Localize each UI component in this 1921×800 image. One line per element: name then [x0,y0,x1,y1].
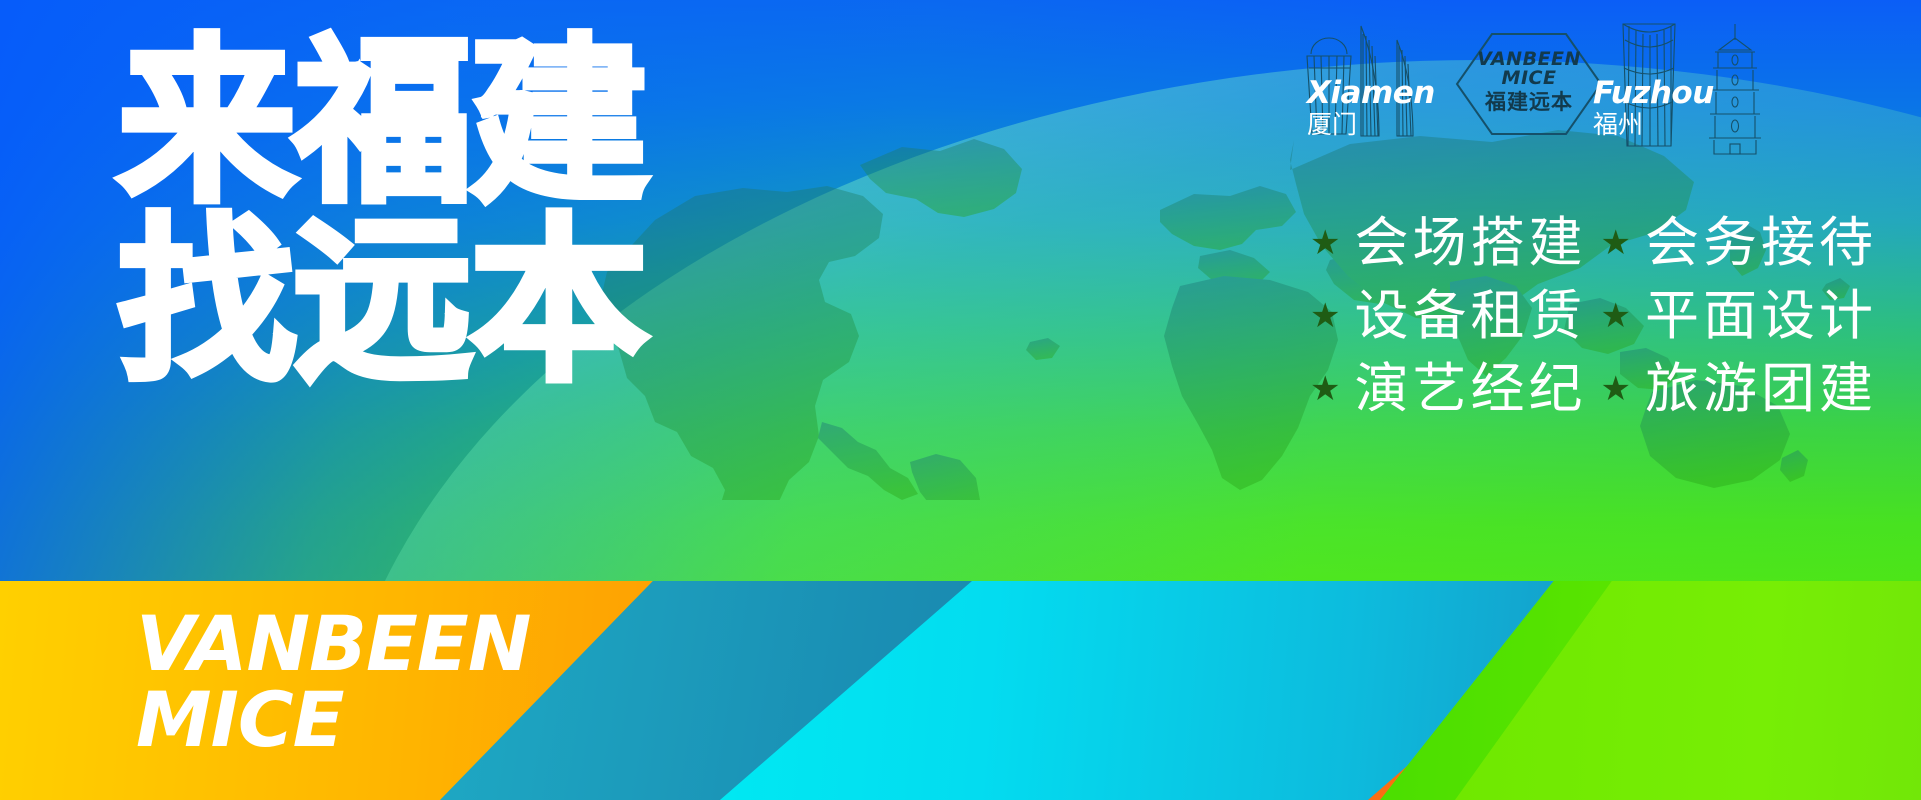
service-label: 平面设计 [1645,281,1877,350]
star-icon: ★ [1601,226,1631,260]
service-label: 设备租赁 [1355,281,1587,350]
city-name-en: Fuzhou [1593,78,1714,109]
promotional-banner: 来福建 找远本 ★ 会场搭建 ★ 会务接待 ★ 设备租赁 ★ 平面设计 ★ [0,0,1921,800]
headline-line-1: 来福建 [118,38,646,209]
service-item: ★ 会务接待 [1601,208,1877,277]
service-label: 会场搭建 [1355,208,1587,277]
star-icon: ★ [1310,299,1340,333]
services-list: ★ 会场搭建 ★ 会务接待 ★ 设备租赁 ★ 平面设计 ★ 演艺经纪 ★ 旅游团 [1310,208,1877,423]
hero-gradient-background: 来福建 找远本 ★ 会场搭建 ★ 会务接待 ★ 设备租赁 ★ 平面设计 ★ [0,0,1921,581]
service-label: 会务接待 [1645,208,1877,277]
wordmark-line-2: MICE [136,685,530,755]
bottom-ribbon: VANBEEN MICE [0,581,1921,800]
service-item: ★ 设备租赁 [1310,281,1586,350]
city-name-en: Xiamen [1307,78,1435,109]
service-item: ★ 平面设计 [1601,281,1877,350]
service-item: ★ 会场搭建 [1310,208,1586,277]
hex-logo-line-2: MICE [1455,69,1603,88]
service-item: ★ 演艺经纪 [1310,354,1586,423]
city-label-fuzhou: Fuzhou 福州 [1593,78,1714,140]
vanbeen-hexagon-logo: VANBEEN MICE 福建远本 [1455,32,1603,136]
city-name-cn: 厦门 [1307,109,1435,140]
service-item: ★ 旅游团建 [1601,354,1877,423]
city-name-cn: 福州 [1593,109,1714,140]
star-icon: ★ [1601,299,1631,333]
service-label: 演艺经纪 [1355,354,1587,423]
star-icon: ★ [1310,226,1340,260]
wordmark-line-1: VANBEEN [136,609,530,679]
city-landmark-cluster: Xiamen 厦门 VANBEEN MICE 福建远本 [1305,6,1905,168]
page-title: 来福建 找远本 [118,38,646,388]
vanbeen-mice-wordmark: VANBEEN MICE [136,609,530,755]
star-icon: ★ [1310,372,1340,406]
service-label: 旅游团建 [1645,354,1877,423]
headline-line-2: 找远本 [118,217,646,388]
star-icon: ★ [1601,372,1631,406]
city-label-xiamen: Xiamen 厦门 [1307,78,1435,140]
hex-logo-line-3: 福建远本 [1455,91,1603,114]
